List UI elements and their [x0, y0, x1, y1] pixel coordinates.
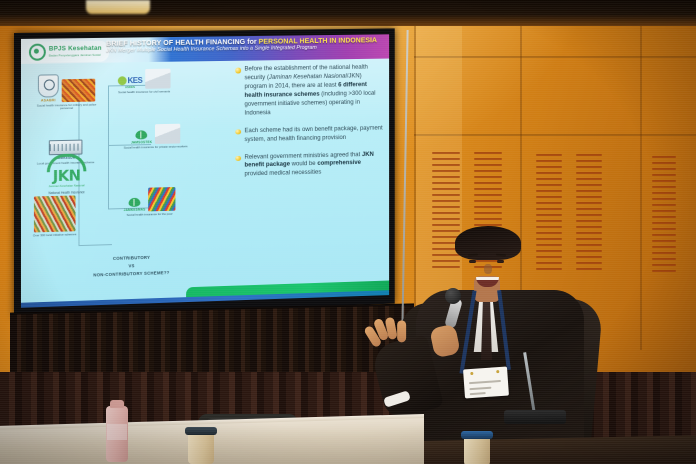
bullet-dot-icon [235, 68, 240, 73]
scheme-caption: Social health insurance for private sect… [124, 145, 188, 150]
speaker-hair [455, 226, 521, 260]
jkn-subtitle: Jaminan Kesehatan Nasional [49, 183, 85, 188]
ceiling-light [86, 0, 150, 14]
paper-cup [188, 432, 214, 464]
connector-line [108, 85, 109, 208]
microphone-head-icon [445, 288, 461, 304]
jamsostek-leaf-icon [136, 130, 148, 139]
name-badge [463, 367, 509, 399]
cup-lid [461, 431, 493, 439]
scheme-merger-diagram: ASABRI Social health insurance for milit… [23, 62, 234, 294]
scheme-asabri: ASABRI Social health insurance for milit… [31, 74, 102, 112]
projection-screen: BPJS Kesehatan Badan Penyelenggara Jamin… [14, 28, 395, 317]
bullet-text: Relevant government ministries agreed th… [244, 150, 383, 179]
contributory-question: CONTRIBUTORY VS NON-CONTRIBUTORY SCHEME?… [67, 252, 196, 280]
scheme-caption: Social health insurance for military and… [31, 103, 102, 112]
scheme-label: ASABRI [41, 98, 56, 102]
scheme-local: Over 300 local initiative schemes [33, 195, 76, 237]
asabri-emblem-icon [38, 74, 59, 97]
slide-title-highlight: PERSONAL HEALTH IN INDONESIA [259, 35, 377, 45]
scheme-label: JAMKESMAS [124, 208, 146, 213]
table-microphone-base [504, 410, 566, 424]
acoustic-vent-panel [652, 156, 676, 272]
jamkesmas-leaf-icon [129, 198, 141, 207]
connector-line [78, 244, 111, 246]
scheme-label: JAMSOSTEK [131, 140, 152, 144]
scheme-photo [145, 69, 170, 89]
bullet-text: Before the establishment of the national… [244, 63, 383, 118]
paper-cup [464, 436, 490, 464]
speaker-eye [497, 260, 504, 263]
askes-tagline: ASKES [125, 86, 135, 89]
bullet-item: Relevant government ministries agreed th… [235, 150, 383, 180]
scheme-askes: KES ASKES Social health insurance for ci… [118, 69, 171, 95]
bpjs-kesehatan-logo: BPJS Kesehatan Badan Penyelenggara Jamin… [26, 41, 109, 63]
scheme-photo [62, 79, 96, 102]
scheme-caption: Over 300 local initiative schemes [33, 233, 76, 238]
slide-bullet-list: Before the establishment of the national… [235, 63, 383, 280]
speaker-nose [484, 264, 492, 274]
head-table-right [418, 435, 696, 464]
bullet-dot-icon [235, 129, 240, 135]
scheme-jamkesmas: JAMKESMAS Social health insurance for th… [124, 187, 176, 217]
scheme-jamsostek: JAMSOSTEK Social health insurance for pr… [124, 124, 188, 150]
scheme-caption: Social health insurance for the poor [127, 212, 173, 217]
bullet-item: Before the establishment of the national… [235, 63, 383, 118]
speaker-figure [392, 228, 622, 464]
bpjs-logo-line2: Badan Penyelenggara Jaminan Sosial [49, 53, 102, 57]
bpjs-mark-icon [29, 44, 46, 61]
jkn-logo: JKN Jaminan Kesehatan Nasional National … [47, 153, 87, 195]
scheme-photo [155, 124, 180, 144]
speaker-eye [469, 260, 476, 263]
cup-lid [185, 427, 217, 435]
scheme-photo [148, 187, 175, 211]
bullet-dot-icon [235, 155, 240, 161]
scheme-caption: Social health insurance for civil servan… [118, 90, 170, 95]
bottle-label [107, 424, 127, 440]
presentation-slide: BPJS Kesehatan Badan Penyelenggara Jamin… [21, 34, 389, 307]
photo-scene: BPJS Kesehatan Badan Penyelenggara Jamin… [0, 0, 696, 464]
jkn-acronym: JKN [53, 169, 81, 182]
bullet-item: Each scheme had its own benefit package,… [235, 124, 383, 145]
bullet-text: Each scheme had its own benefit package,… [244, 124, 383, 144]
scheme-photo [34, 195, 76, 232]
bottle-cap [110, 400, 124, 408]
wall-seam [640, 0, 642, 350]
